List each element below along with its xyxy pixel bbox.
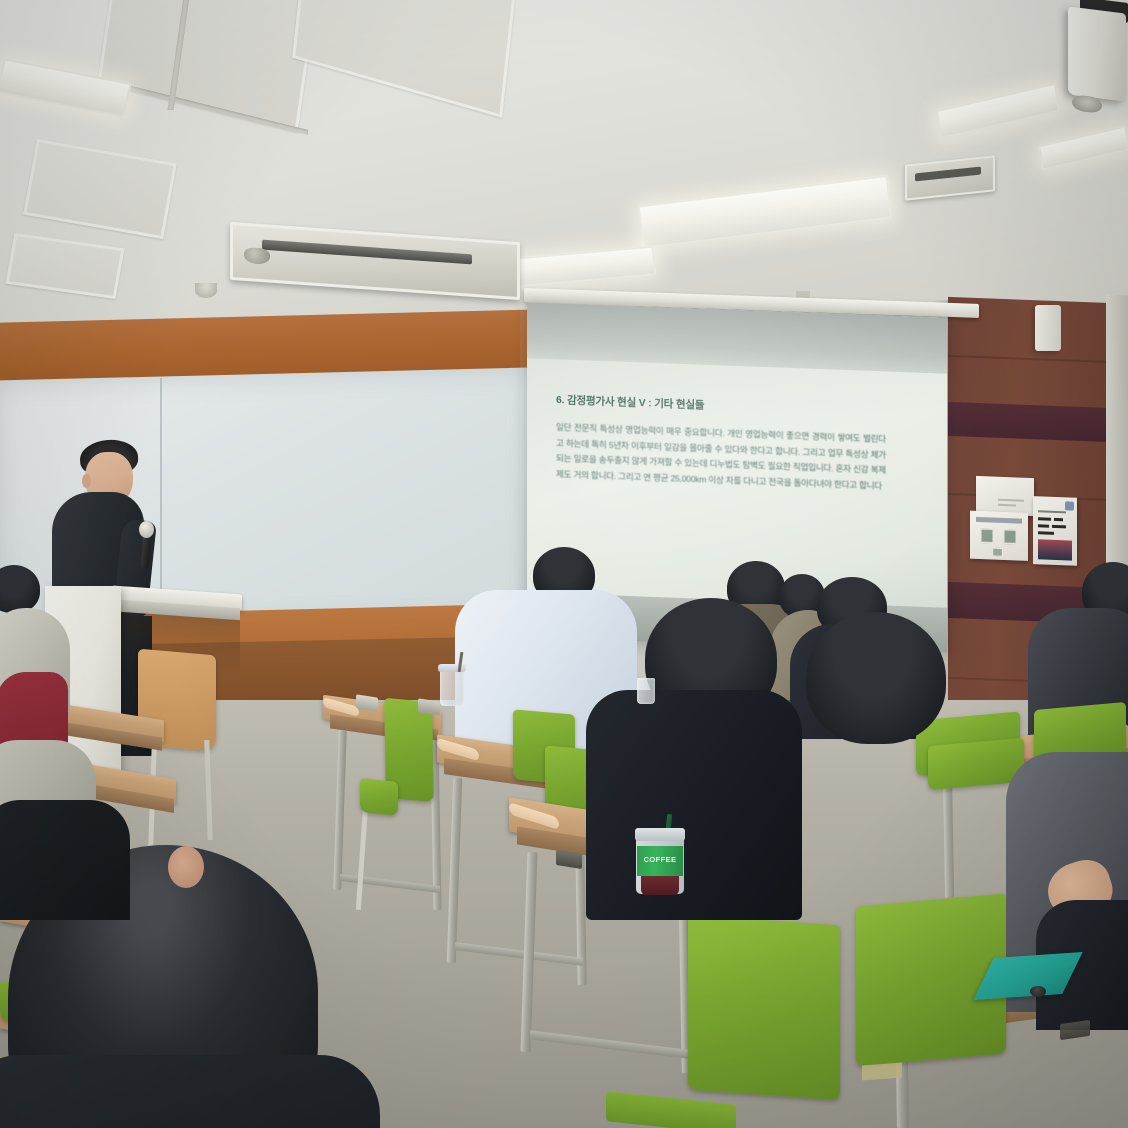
ceiling-panel: [23, 139, 177, 239]
notice-text-block: [1038, 517, 1051, 521]
notice-photo-box: [1003, 529, 1017, 545]
notice-text-block: [1054, 518, 1063, 522]
notice-photo-box: [992, 548, 1003, 557]
audience-torso-foreground: [0, 1055, 380, 1128]
plastic-cup: [440, 668, 464, 706]
presenter-ear: [82, 474, 91, 488]
lecture-hall-photo: 6. 감정평가사 현실 V : 기타 현실들 일단 전문직 특성상 영업능력이 …: [0, 0, 1128, 1128]
ceiling: [0, 0, 1128, 330]
audience-torso: [746, 712, 1004, 1012]
notice-poster-lower-left: [970, 511, 1028, 561]
ceiling-panel: [97, 0, 318, 132]
notice-text-line: [998, 499, 1024, 502]
ceiling-air-conditioner: [230, 222, 520, 300]
wall-stripe: [948, 402, 1113, 442]
ceiling-light: [1038, 125, 1128, 170]
ceiling-panel: [5, 233, 124, 299]
ceiling-light: [503, 246, 656, 289]
notice-poster-upper: [976, 476, 1034, 516]
cup-liquid: [641, 876, 679, 895]
chair-inventory-label: [862, 1063, 902, 1081]
notice-text-block: [1052, 525, 1066, 529]
ceiling-projector: [1068, 6, 1126, 101]
ceiling-light: [936, 83, 1060, 140]
slide-body-text: 일단 전문직 특성상 영업능력이 매우 중요합니다. 개인 영업능력이 좋으면 …: [556, 420, 886, 494]
audience-ear: [168, 846, 204, 888]
notice-text-line: [998, 504, 1016, 506]
cup-lid: [635, 828, 685, 841]
smoke-detector-icon: [195, 283, 217, 298]
cup-brand-label: COFFEE: [639, 855, 681, 864]
classroom-chair[interactable]: [360, 778, 398, 816]
whiteboard-seam: [160, 378, 162, 614]
cup-lid: [438, 664, 466, 672]
ceiling-light: [638, 175, 893, 249]
microphone-icon: [139, 521, 154, 538]
folder-clip: [1030, 986, 1046, 997]
audience-torso: [0, 800, 130, 920]
iced-coffee-cup: COFFEE: [636, 816, 684, 894]
notice-text-block: [1038, 524, 1049, 528]
notice-header-band: [976, 517, 1022, 524]
notice-poster-right: [1033, 496, 1077, 566]
notice-image: [1038, 539, 1072, 560]
notice-text-block: [1038, 531, 1054, 535]
ceiling-panel: [292, 0, 518, 118]
notice-photo-box: [980, 528, 994, 544]
notice-logo-icon: [1065, 501, 1074, 510]
notice-title-line: [1038, 510, 1066, 513]
projected-slide: 6. 감정평가사 현실 V : 기타 현실들 일단 전문직 특성상 영업능력이 …: [556, 392, 886, 534]
wall-speaker: [1035, 305, 1061, 351]
wall-seam: [948, 355, 1113, 363]
plastic-cup: [637, 678, 655, 704]
